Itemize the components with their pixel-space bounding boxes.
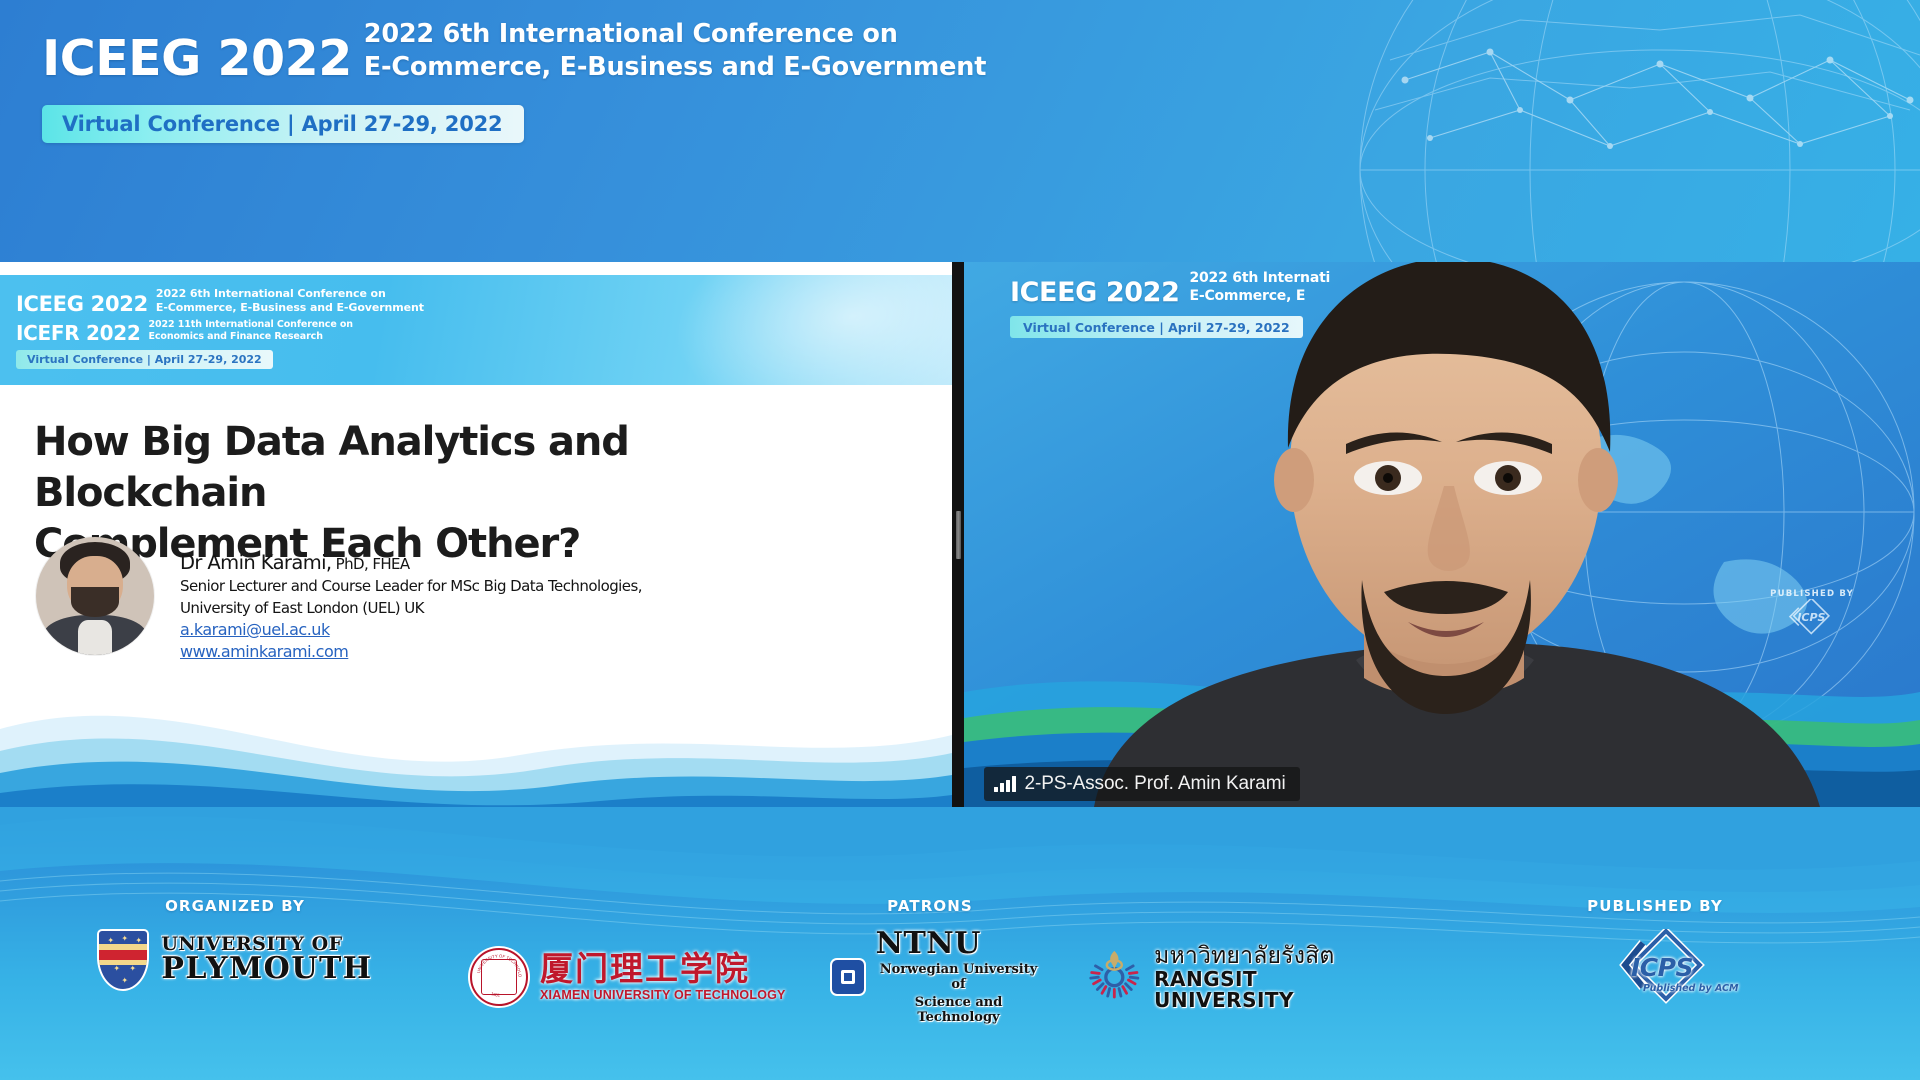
drag-grip-icon xyxy=(956,511,961,559)
plymouth-name-line2: PLYMOUTH xyxy=(161,954,372,985)
sponsor-caption-patrons: PATRONS xyxy=(887,897,973,915)
icps-watermark-icon: ICPS xyxy=(1784,599,1840,643)
conference-title-line2: E-Commerce, E-Business and E-Government xyxy=(364,51,986,84)
slide-header-banner: ICEEG 2022 2022 6th International Confer… xyxy=(0,275,952,385)
slide-conf2-acronym: ICEFR 2022 xyxy=(16,323,140,343)
sponsor-logo-row: ORGANIZED BY ✦ ✦ ✦ ✦ ✦ ✦ xyxy=(0,897,1920,1080)
presenter-role-line2: University of East London (UEL) UK xyxy=(180,598,642,619)
presenter-name: Dr Amin Karami, xyxy=(180,551,332,574)
slide-conf1-title: 2022 6th International Conference on E-C… xyxy=(156,287,424,315)
sponsor-group-patrons: PATRONS UNIVERSITY OF TECHNOLOGY 1981 xyxy=(470,897,1390,1080)
globe-network-decoration xyxy=(1190,0,1920,262)
conference-date-badge: Virtual Conference | April 27-29, 2022 xyxy=(42,105,524,143)
logo-ntnu: NTNU Norwegian University of Science and… xyxy=(832,929,1042,1025)
top-conference-banner: ICEEG 2022 2022 6th International Confer… xyxy=(0,0,1920,262)
stream-stage: ICEEG 2022 2022 6th International Confer… xyxy=(0,262,1920,807)
participant-name-tag: 2-PS-Assoc. Prof. Amin Karami xyxy=(984,767,1300,801)
presenter-details: Dr Amin Karami, PhD, FHEA Senior Lecture… xyxy=(180,537,642,663)
shared-slide-pane[interactable]: ICEEG 2022 2022 6th International Confer… xyxy=(0,262,952,807)
conference-stream-screen: ICEEG 2022 2022 6th International Confer… xyxy=(0,0,1920,1080)
xiamen-name-cn: 厦门理工学院 xyxy=(540,952,786,985)
banner-text-block: ICEEG 2022 2022 6th International Confer… xyxy=(42,18,986,143)
svg-text:UNIVERSITY OF TECHNOLOGY: UNIVERSITY OF TECHNOLOGY xyxy=(472,950,523,978)
slide-conf2-line1: 2022 11th International Conference on xyxy=(148,319,352,331)
logo-university-of-plymouth: ✦ ✦ ✦ ✦ ✦ ✦ UNIVERSITY OF PLYMOUTH xyxy=(97,929,372,991)
presenter-role-line1: Senior Lecturer and Course Leader for MS… xyxy=(180,576,642,597)
speaker-webcam-image xyxy=(964,262,1920,807)
slide-conf2-line2: Economics and Finance Research xyxy=(148,331,352,343)
slide-conf2-title: 2022 11th International Conference on Ec… xyxy=(148,319,352,343)
presenter-credentials: PhD, FHEA xyxy=(332,555,410,573)
xiamen-name-en: XIAMEN UNIVERSITY OF TECHNOLOGY xyxy=(540,988,786,1002)
conference-full-title: 2022 6th International Conference on E-C… xyxy=(364,18,986,85)
xiamen-seal-ring-text: UNIVERSITY OF TECHNOLOGY 1981 xyxy=(472,950,526,1004)
pane-resize-handle[interactable] xyxy=(952,262,964,807)
rangsit-name-en: RANGSIT UNIVERSITY xyxy=(1154,969,1390,1011)
presenter-website-link[interactable]: www.aminkarami.com xyxy=(180,641,642,663)
slide-date-badge: Virtual Conference | April 27-29, 2022 xyxy=(16,350,273,369)
slide-title-line1: How Big Data Analytics and Blockchain xyxy=(34,417,794,519)
rangsit-name-th: มหาวิทยาลัยรังสิต xyxy=(1154,944,1390,969)
video-publisher-watermark: PUBLISHED BY ICPS xyxy=(1770,589,1854,648)
icps-wordmark: ICPS xyxy=(1631,953,1693,982)
presenter-block: Dr Amin Karami, PhD, FHEA Senior Lecture… xyxy=(36,537,642,663)
presenter-email-link[interactable]: a.karami@uel.ac.uk xyxy=(180,619,642,641)
conference-title-line1: 2022 6th International Conference on xyxy=(364,18,986,51)
sponsor-group-organized-by: ORGANIZED BY ✦ ✦ ✦ ✦ ✦ ✦ xyxy=(0,897,470,1080)
presenter-avatar xyxy=(36,537,154,655)
logo-rangsit-university: มหาวิทยาลัยรังสิต RANGSIT UNIVERSITY xyxy=(1087,944,1390,1011)
plymouth-shield-icon: ✦ ✦ ✦ ✦ ✦ ✦ xyxy=(97,929,149,991)
logo-icps: ICPS Published by ACM xyxy=(1617,929,1693,1005)
icps-publisher-note: Published by ACM xyxy=(1643,983,1738,994)
sponsor-footer-band: ORGANIZED BY ✦ ✦ ✦ ✦ ✦ ✦ xyxy=(0,807,1920,1080)
speaker-video-pane[interactable]: ICEEG 2022 2022 6th Internati E-Commerce… xyxy=(964,262,1920,807)
icps-diamond-icon: ICPS Published by ACM xyxy=(1617,929,1693,1005)
sponsor-caption-organized-by: ORGANIZED BY xyxy=(165,897,305,915)
participant-name: 2-PS-Assoc. Prof. Amin Karami xyxy=(1025,773,1286,795)
video-publisher-label: PUBLISHED BY xyxy=(1770,589,1854,599)
xiamen-seal-icon: UNIVERSITY OF TECHNOLOGY 1981 xyxy=(470,948,528,1006)
signal-bars-icon xyxy=(994,776,1016,792)
svg-text:1981: 1981 xyxy=(490,991,500,998)
sponsor-caption-published-by: PUBLISHED BY xyxy=(1587,897,1723,915)
ntnu-name-line2: Science and Technology xyxy=(876,995,1042,1025)
slide-conf1-acronym: ICEEG 2022 xyxy=(16,294,148,315)
ntnu-square-icon xyxy=(832,960,864,994)
conference-date-text: Virtual Conference | April 27-29, 2022 xyxy=(62,112,502,136)
slide-conf1-line1: 2022 6th International Conference on xyxy=(156,287,424,301)
presenter-name-line: Dr Amin Karami, PhD, FHEA xyxy=(180,550,642,576)
logo-xiamen-university-of-technology: UNIVERSITY OF TECHNOLOGY 1981 厦门理工学院 XIA… xyxy=(470,948,786,1006)
conference-acronym: ICEEG 2022 xyxy=(42,33,352,85)
ntnu-acronym: NTNU xyxy=(876,929,1042,959)
sponsor-group-published-by: PUBLISHED BY xyxy=(1390,897,1920,1080)
slide-conf1-line2: E-Commerce, E-Business and E-Government xyxy=(156,301,424,315)
ntnu-name-line1: Norwegian University of xyxy=(876,962,1042,992)
rangsit-emblem-icon xyxy=(1087,948,1142,1006)
svg-text:ICPS: ICPS xyxy=(1797,611,1825,624)
